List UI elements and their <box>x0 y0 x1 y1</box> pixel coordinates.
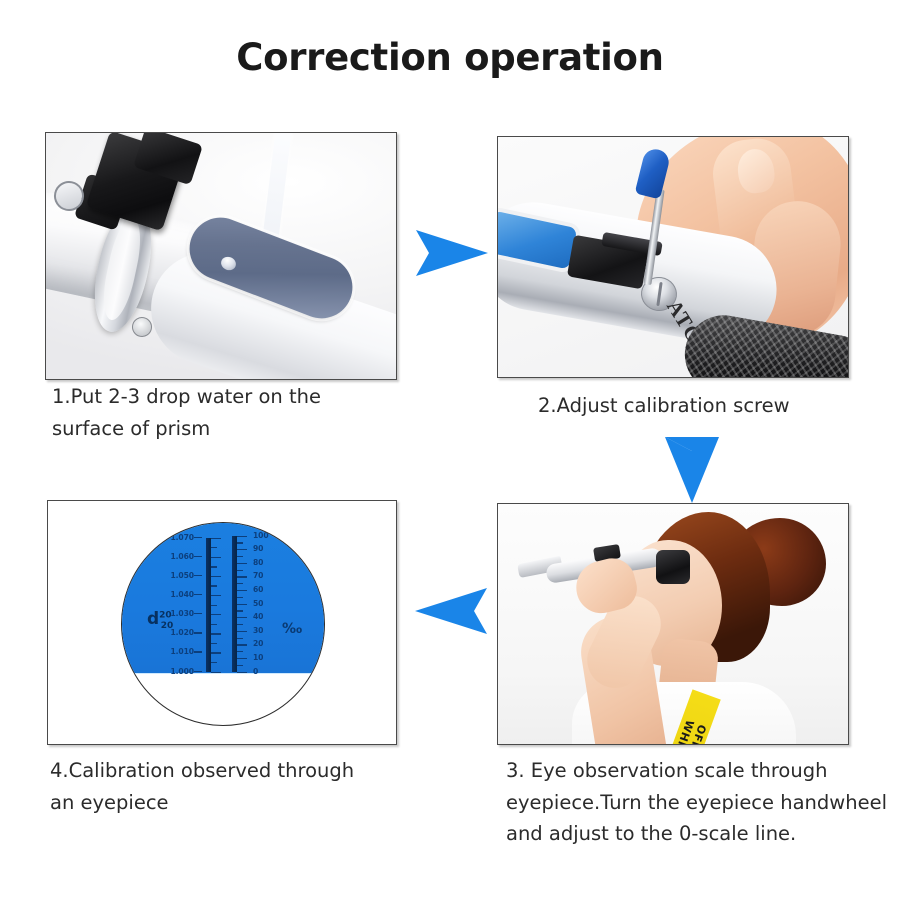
permille-tick-label: 70 <box>253 572 263 580</box>
sg-tick-label: 1.030 <box>170 610 194 618</box>
scale-tick <box>211 633 221 634</box>
scale-tick <box>211 595 221 596</box>
scale-tick <box>211 643 217 644</box>
scale-tick <box>211 662 217 663</box>
per-mille-label: ‰ <box>282 621 302 637</box>
permille-tick-label: 30 <box>253 627 263 635</box>
scale-tick <box>211 624 217 625</box>
step-4-caption: 4.Calibration observed through an eyepie… <box>50 755 410 818</box>
step-3-photo: OFF-WHITE <box>497 503 849 745</box>
scale-tick <box>211 538 221 539</box>
scale-tick <box>211 614 221 615</box>
permille-tick-label: 50 <box>253 600 263 608</box>
caption-line: an eyepiece <box>50 787 410 819</box>
scale-tick <box>237 665 243 666</box>
scale-tick <box>237 638 243 639</box>
scale-tick <box>237 644 247 645</box>
scale-tick <box>211 576 221 577</box>
sg-tick-label: 1.000 <box>170 668 194 676</box>
sg-tick-label: 1.070 <box>170 534 194 542</box>
left-scale-ticks <box>211 523 225 725</box>
scale-tick <box>237 542 243 543</box>
scale-tick <box>211 547 217 548</box>
caption-line: 3. Eye observation scale through <box>506 755 896 787</box>
sg-tick-label: 1.020 <box>170 629 194 637</box>
scale-tick <box>237 576 247 577</box>
permille-tick-label: 40 <box>253 613 263 621</box>
scale-tick <box>237 610 243 611</box>
caption-line: 4.Calibration observed through <box>50 755 410 787</box>
permille-tick-label: 20 <box>253 640 263 648</box>
caption-line: 1.Put 2-3 drop water on the <box>52 381 402 413</box>
scale-tick <box>237 617 247 618</box>
caption-line: surface of prism <box>52 413 402 445</box>
step-3-caption: 3. Eye observation scale through eyepiec… <box>506 755 896 850</box>
permille-tick-label: 80 <box>253 559 263 567</box>
sg-tick-label: 1.040 <box>170 591 194 599</box>
specific-gravity-tick-labels: 1.0701.0601.0501.0401.0301.0201.0101.000 <box>136 523 194 725</box>
scale-tick <box>237 658 247 659</box>
caption-line: 2.Adjust calibration screw <box>538 390 878 422</box>
eyepiece <box>656 550 690 584</box>
scale-tick <box>211 605 217 606</box>
caption-line: eyepiece.Turn the eyepiece handwheel <box>506 787 896 819</box>
caption-line: and adjust to the 0-scale line. <box>506 818 896 850</box>
scale-tick <box>237 597 243 598</box>
scale-tick <box>237 549 247 550</box>
step-2-caption: 2.Adjust calibration screw <box>538 390 878 422</box>
scale-tick <box>237 631 247 632</box>
scale-tick <box>237 651 243 652</box>
sg-tick-label: 1.060 <box>170 553 194 561</box>
scale-tick <box>237 672 247 673</box>
permille-tick-label: 60 <box>253 586 263 594</box>
arrow-step3-to-step4-icon <box>415 580 487 642</box>
scale-tick <box>211 652 221 653</box>
scale-tick <box>211 672 221 673</box>
eyepiece-scale-view: d2020 ‰ 1.0701.0601.0501.0401.0301.0201.… <box>121 522 325 726</box>
scale-tick <box>211 585 217 586</box>
step-2-photo: ATC <box>497 136 849 378</box>
sg-tick-label: 1.010 <box>170 648 194 656</box>
arrow-step1-to-step2-icon <box>416 222 488 284</box>
permille-tick-label: 0 <box>253 668 258 676</box>
permille-tick-label: 100 <box>253 532 269 540</box>
arrow-step2-to-step3-icon <box>661 437 723 503</box>
right-scale-ticks <box>237 523 251 725</box>
scale-tick <box>237 624 243 625</box>
scale-tick <box>237 570 243 571</box>
step-1-photo <box>45 132 397 380</box>
sg-tick-label: 1.050 <box>170 572 194 580</box>
scale-tick <box>237 590 247 591</box>
per-mille-tick-labels: 1009080706050403020100 <box>253 523 277 725</box>
scale-tick <box>237 536 247 537</box>
permille-tick-label: 10 <box>253 654 263 662</box>
page-title: Correction operation <box>0 36 900 79</box>
scale-tick <box>237 563 247 564</box>
permille-tick-label: 90 <box>253 545 263 553</box>
step-1-caption: 1.Put 2-3 drop water on the surface of p… <box>52 381 402 444</box>
scale-tick <box>211 557 221 558</box>
scale-tick <box>211 566 217 567</box>
scale-tick <box>237 583 243 584</box>
scale-tick <box>237 604 247 605</box>
step-4-photo: d2020 ‰ 1.0701.0601.0501.0401.0301.0201.… <box>47 500 397 745</box>
scale-tick <box>237 556 243 557</box>
